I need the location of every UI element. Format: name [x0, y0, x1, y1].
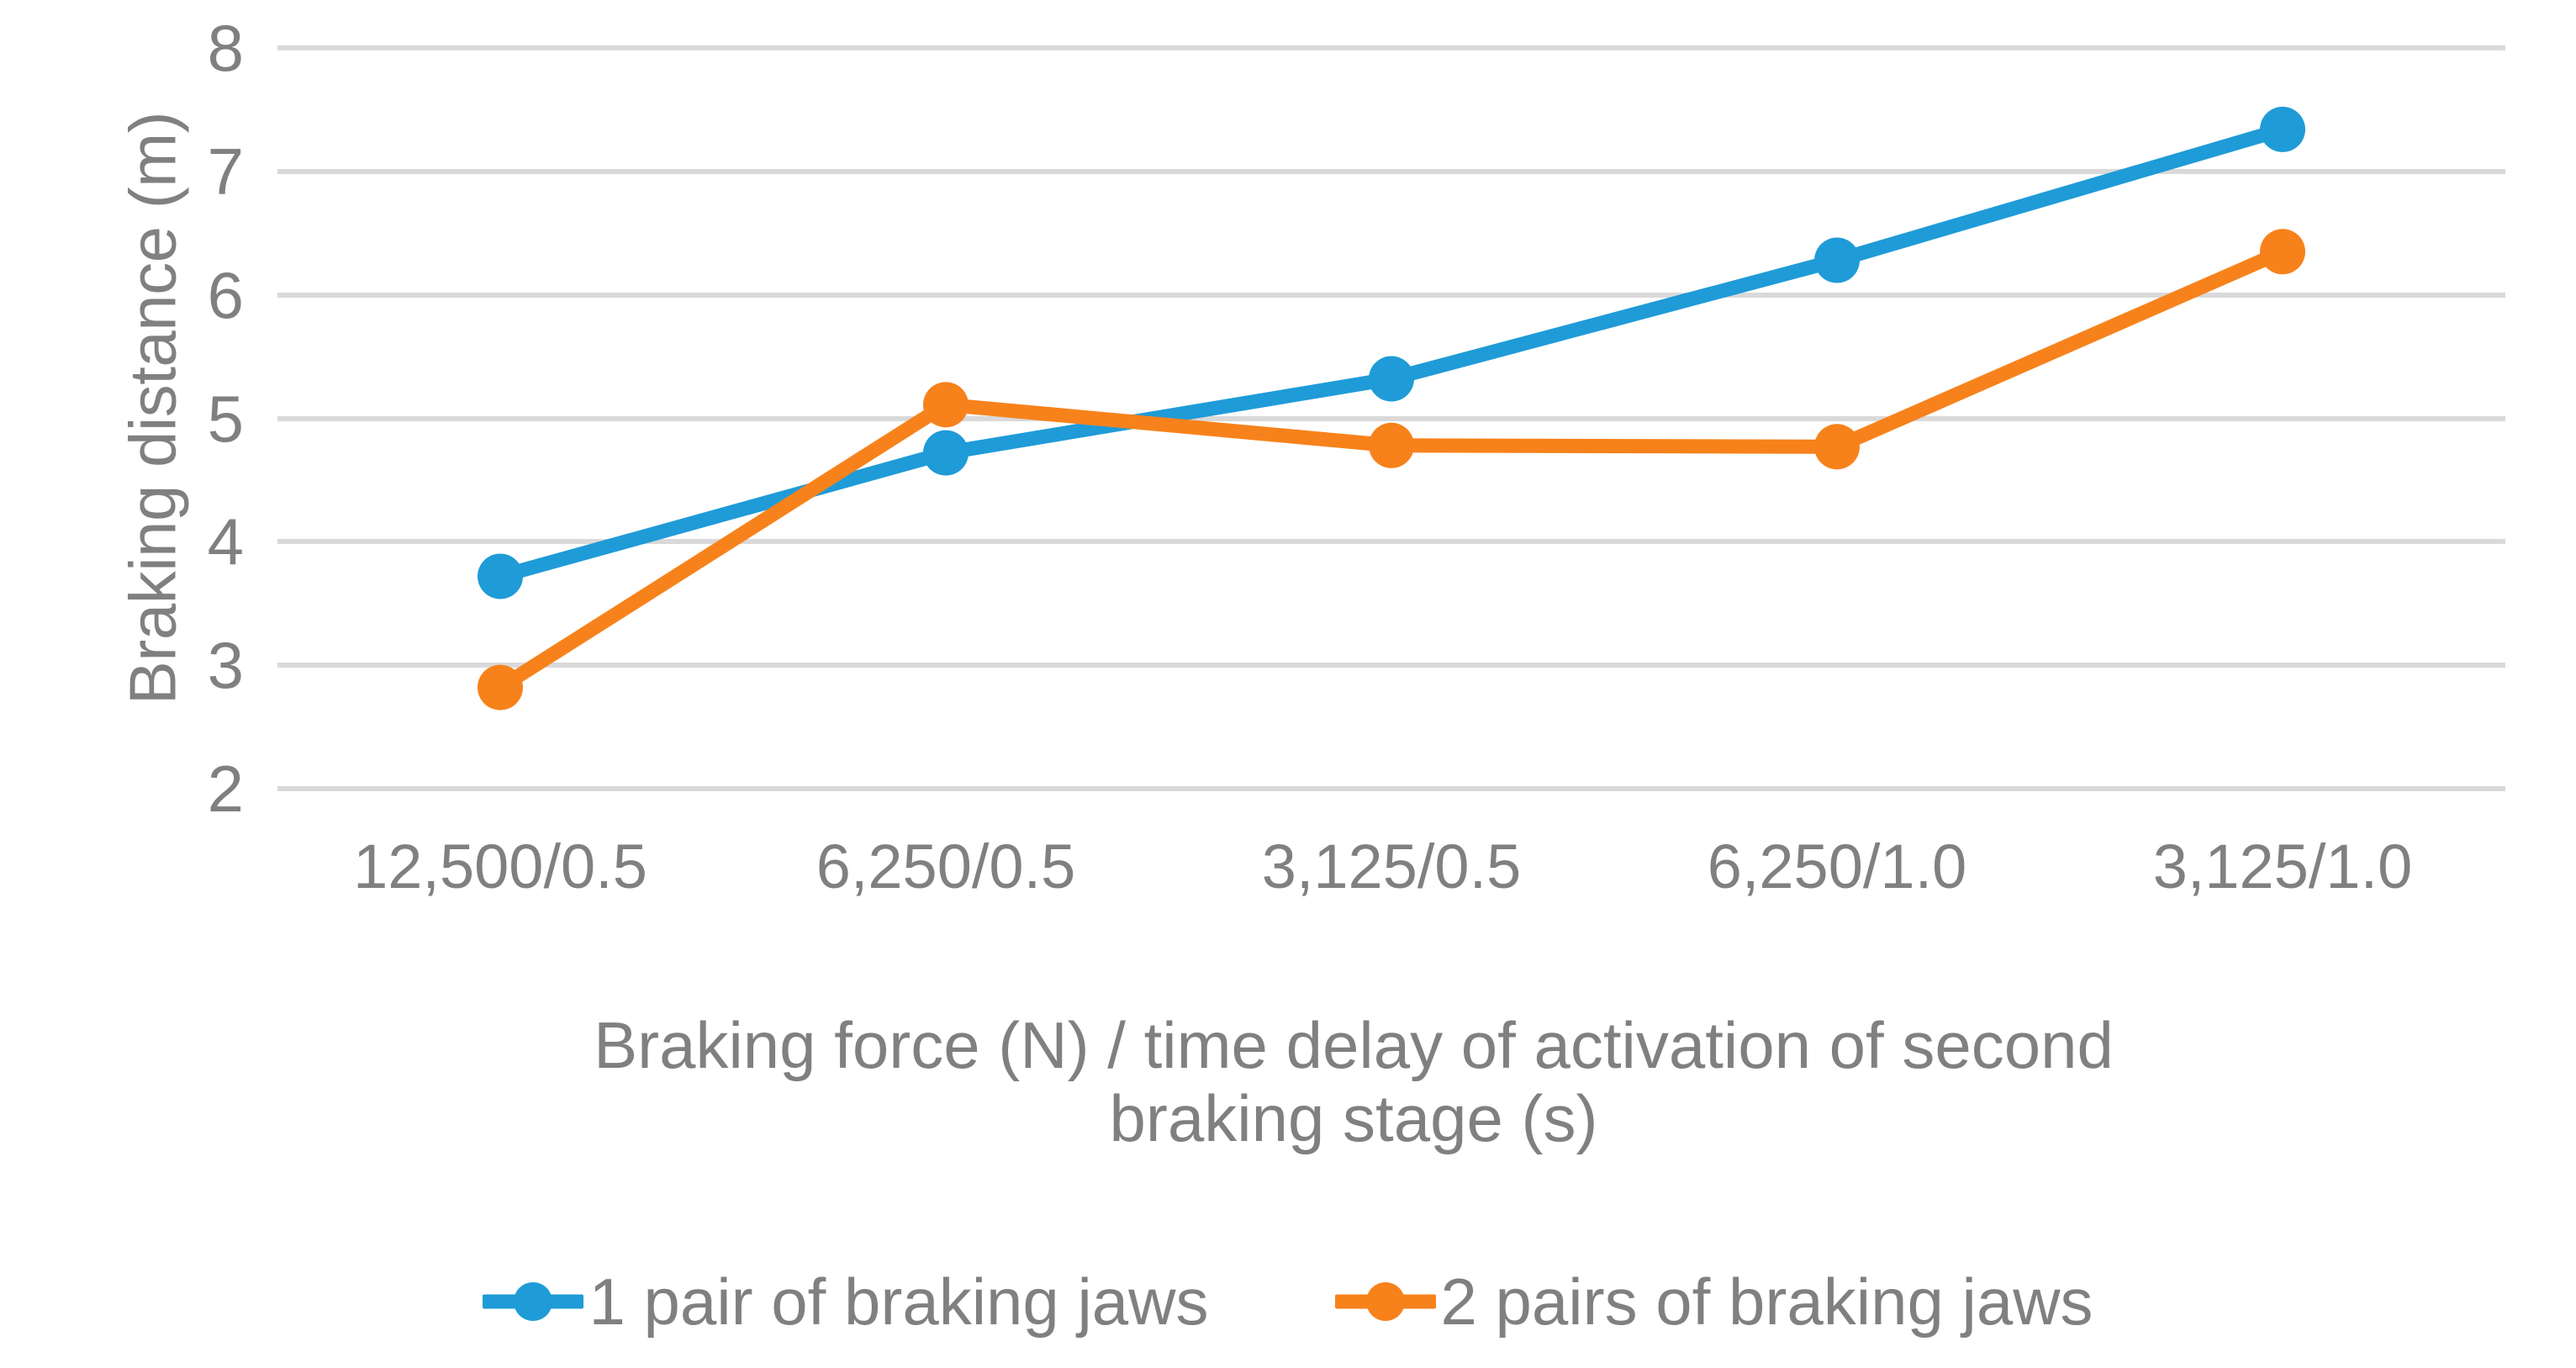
- series-line: [500, 129, 2283, 577]
- x-axis-title-line: Braking force (N) / time delay of activa…: [277, 1009, 2430, 1082]
- y-axis-tick-labels: 8765432: [126, 0, 244, 841]
- y-axis-tick-label: 8: [126, 15, 244, 81]
- y-axis-tick-label: 2: [126, 756, 244, 821]
- data-point-marker: [2260, 107, 2305, 152]
- series-lines: [277, 48, 2505, 789]
- legend-entry-1[interactable]: 1 pair of braking jaws: [483, 1269, 1208, 1334]
- legend-label: 2 pairs of braking jaws: [1441, 1269, 2093, 1334]
- legend-marker-icon: [1335, 1276, 1436, 1327]
- x-axis-tick-labels: 12,500/0.56,250/0.53,125/0.56,250/1.03,1…: [277, 832, 2505, 925]
- legend-marker-icon: [483, 1276, 583, 1327]
- data-point-marker: [2260, 229, 2305, 274]
- y-axis-tick-label: 4: [126, 509, 244, 574]
- data-point-marker: [1814, 424, 1860, 469]
- series-2: [478, 229, 2305, 710]
- x-axis-title-line: braking stage (s): [277, 1082, 2430, 1155]
- chart-legend: 1 pair of braking jaws2 pairs of braking…: [0, 1243, 2576, 1360]
- x-axis-tick-label: 3,125/1.0: [2047, 832, 2518, 901]
- legend-label: 1 pair of braking jaws: [589, 1269, 1208, 1334]
- line-chart: Braking distance (m) 8765432 12,500/0.56…: [0, 0, 2576, 1368]
- y-axis-tick-label: 6: [126, 262, 244, 328]
- legend-entry-2[interactable]: 2 pairs of braking jaws: [1335, 1269, 2093, 1334]
- data-point-marker: [478, 553, 523, 599]
- x-axis-title: Braking force (N) / time delay of activa…: [277, 1009, 2430, 1156]
- x-axis-tick-label: 12,500/0.5: [265, 832, 736, 901]
- data-point-marker: [1814, 238, 1860, 283]
- data-point-marker: [923, 430, 969, 476]
- data-point-marker: [1369, 423, 1414, 468]
- data-point-marker: [923, 382, 969, 427]
- x-axis-tick-label: 6,250/0.5: [710, 832, 1181, 901]
- series-line: [500, 251, 2283, 687]
- data-point-marker: [478, 665, 523, 710]
- x-axis-tick-label: 6,250/1.0: [1602, 832, 2072, 901]
- plot-area: [277, 48, 2505, 789]
- x-axis-tick-label: 3,125/0.5: [1156, 832, 1627, 901]
- y-axis-tick-label: 7: [126, 139, 244, 204]
- y-axis-tick-label: 3: [126, 632, 244, 698]
- y-axis-tick-label: 5: [126, 386, 244, 452]
- data-point-marker: [1369, 357, 1414, 402]
